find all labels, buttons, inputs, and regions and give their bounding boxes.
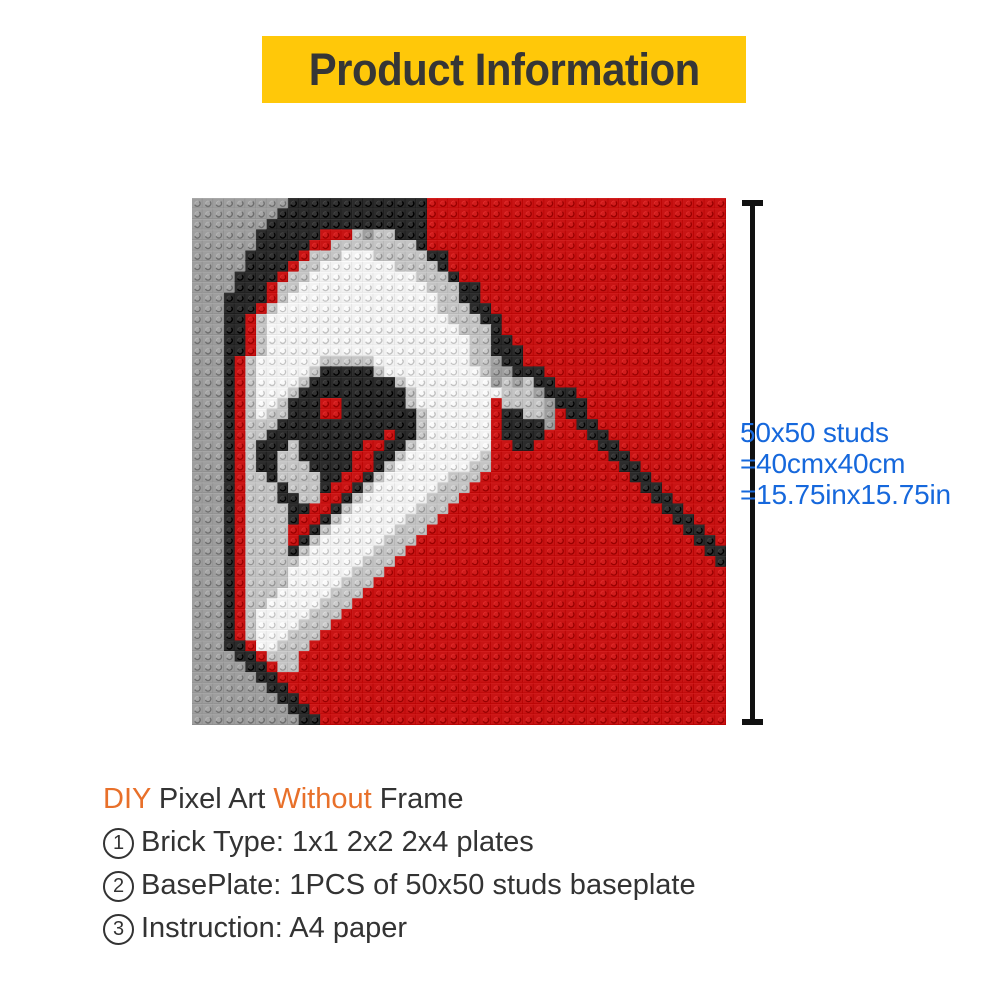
spec-item-instruction: 3Instruction: A4 paper bbox=[103, 907, 696, 950]
spec-block: DIY Pixel Art Without Frame 1Brick Type:… bbox=[103, 778, 696, 950]
dimension-cap-bottom-icon bbox=[742, 719, 763, 725]
circled-number-2-icon: 2 bbox=[103, 871, 134, 902]
spec-item-brick-type-text: Brick Type: 1x1 2x2 2x4 plates bbox=[141, 826, 534, 858]
headline-pixel-art: Pixel Art bbox=[151, 783, 274, 815]
headline-frame: Frame bbox=[372, 783, 464, 815]
dimension-line-studs: 50x50 studs bbox=[740, 417, 951, 448]
headline-without: Without bbox=[273, 783, 371, 815]
mosaic-canvas bbox=[192, 198, 726, 725]
spec-item-baseplate: 2BasePlate: 1PCS of 50x50 studs baseplat… bbox=[103, 864, 696, 907]
title-banner: Product Information bbox=[262, 36, 746, 103]
pixel-art-mosaic bbox=[192, 198, 726, 725]
headline-diy: DIY bbox=[103, 783, 151, 815]
dimension-line-metric: =40cmx40cm bbox=[740, 448, 951, 479]
dimension-line-imperial: =15.75inx15.75in bbox=[740, 479, 951, 510]
page-title: Product Information bbox=[308, 47, 699, 92]
circled-number-3-icon: 3 bbox=[103, 914, 134, 945]
spec-item-brick-type: 1Brick Type: 1x1 2x2 2x4 plates bbox=[103, 821, 696, 864]
circled-number-1-icon: 1 bbox=[103, 828, 134, 859]
spec-headline: DIY Pixel Art Without Frame bbox=[103, 778, 696, 821]
dimension-label: 50x50 studs =40cmx40cm =15.75inx15.75in bbox=[740, 417, 951, 510]
spec-item-baseplate-text: BasePlate: 1PCS of 50x50 studs baseplate bbox=[141, 869, 696, 901]
spec-item-instruction-text: Instruction: A4 paper bbox=[141, 912, 407, 944]
